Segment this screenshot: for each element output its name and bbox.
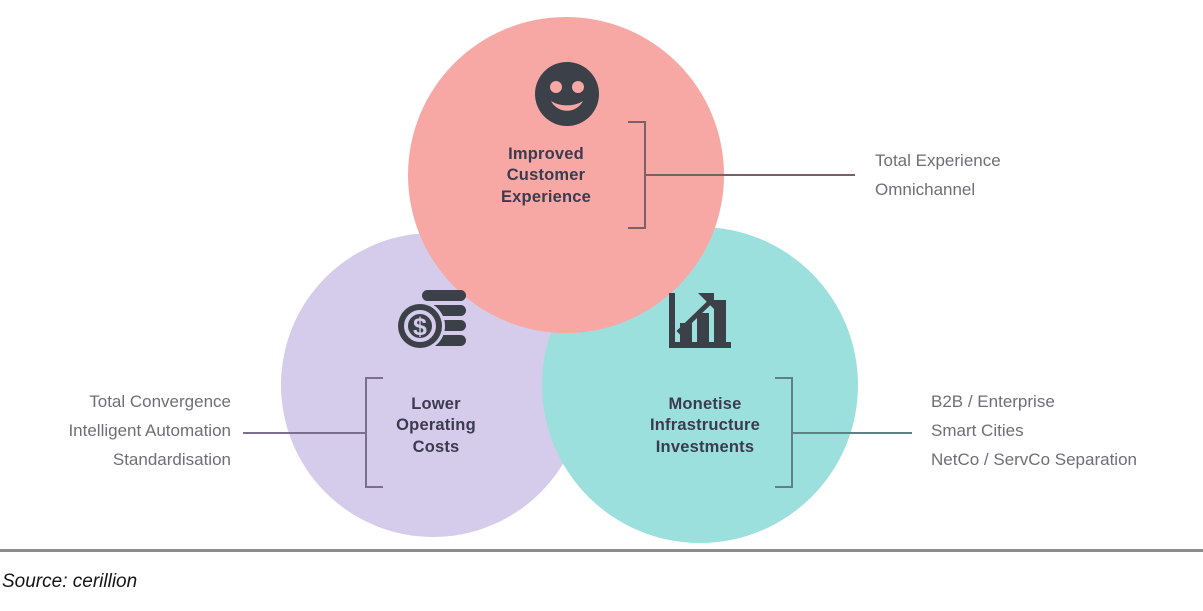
source-caption: Source: cerillion [2, 571, 137, 593]
bar-chart-growth-icon [667, 291, 733, 353]
svg-text:$: $ [413, 313, 427, 341]
circle-label-lower-operating-costs: Lower Operating Costs [358, 394, 514, 458]
annotation-customer-experience-benefits: Total Experience Omnichannel [875, 147, 1135, 205]
annotation-infrastructure-monetisation-benefits: B2B / Enterprise Smart Cities NetCo / Se… [931, 388, 1203, 475]
footer-divider [0, 549, 1203, 552]
circle-label-monetise-infrastructure-investments: Monetise Infrastructure Investments [625, 394, 785, 458]
smiley-face-icon [531, 58, 603, 130]
annotation-operating-cost-benefits: Total Convergence Intelligent Automation… [0, 388, 231, 475]
diagram-canvas: $ [0, 0, 1203, 611]
money-coins-icon: $ [396, 288, 476, 358]
circle-label-improved-customer-experience: Improved Customer Experience [466, 144, 626, 208]
